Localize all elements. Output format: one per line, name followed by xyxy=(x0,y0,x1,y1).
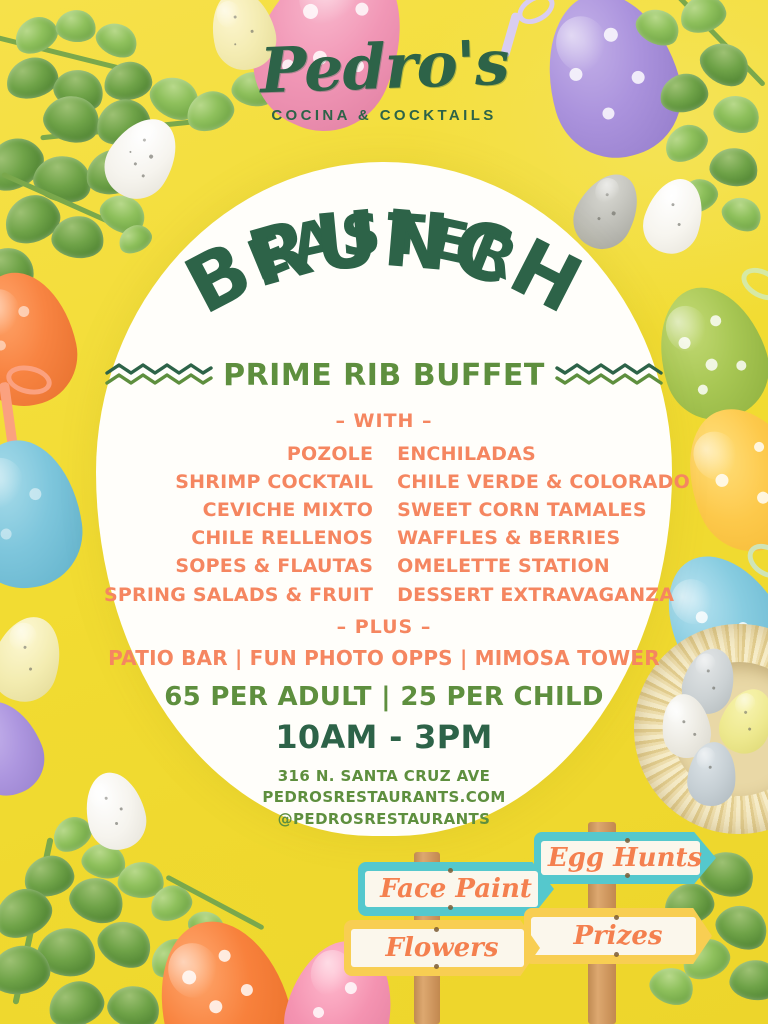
buffet-subtitle: PRIME RIB BUFFET xyxy=(223,358,545,393)
logo-tagline: COCINA & COCKTAILS xyxy=(0,107,768,124)
price-line: 65 PER ADULT | 25 PER CHILD xyxy=(96,682,672,712)
poster-content: EASTER BRUNCH PRIME RIB BUFFET – WITH – xyxy=(96,162,672,836)
menu-column-left: POZOLE SHRIMP COCKTAIL CEVICHE MIXTO CHI… xyxy=(104,440,373,609)
sign-label: Egg Hunts xyxy=(548,843,702,873)
menu-items-grid: POZOLE SHRIMP COCKTAIL CEVICHE MIXTO CHI… xyxy=(104,440,664,609)
sign-face-paint[interactable]: Face Paint xyxy=(358,862,554,916)
menu-item: OMELETTE STATION xyxy=(397,552,690,580)
menu-item: SWEET CORN TAMALES xyxy=(397,496,690,524)
egg-purple-left-lower xyxy=(0,690,55,807)
egg-blue-left xyxy=(0,433,90,595)
sign-plate xyxy=(541,841,700,875)
sign-label: Face Paint xyxy=(380,874,532,904)
ribbon-coral-left-tail xyxy=(0,382,19,457)
menu-item: CHILE VERDE & COLORADO xyxy=(397,468,690,496)
zigzag-right-icon xyxy=(555,363,663,389)
with-label: – WITH – xyxy=(96,410,672,432)
contact-social[interactable]: @PEDROSRESTAURANTS xyxy=(96,809,672,830)
menu-item: CHILE RELLENOS xyxy=(104,524,373,552)
ribbon-purple xyxy=(512,0,560,30)
headline-arch: EASTER BRUNCH xyxy=(96,184,672,374)
signpost-post-left xyxy=(414,852,440,1024)
menu-item: POZOLE xyxy=(104,440,373,468)
sign-plate xyxy=(365,871,538,907)
nest-egg-grey xyxy=(676,642,742,719)
egg-pink-bottom xyxy=(273,929,406,1024)
easter-brunch-poster: Pedro's COCINA & COCKTAILS EASTER BRUNCH xyxy=(0,0,768,1024)
zigzag-left-icon xyxy=(105,363,213,389)
menu-item: ENCHILADAS xyxy=(397,440,690,468)
menu-item: SPRING SALADS & FRUIT xyxy=(104,581,373,609)
headline-line2: BRUNCH xyxy=(172,194,596,332)
ribbon-blue-right xyxy=(741,537,768,585)
signpost-post-right xyxy=(588,822,616,1024)
ribbon-green-right xyxy=(736,261,768,306)
ribbon-coral-left xyxy=(4,362,55,399)
sign-label: Flowers xyxy=(386,933,499,963)
sign-label: Prizes xyxy=(573,921,662,951)
plus-extras-line: PATIO BAR | FUN PHOTO OPPS | MIMOSA TOWE… xyxy=(96,646,672,670)
sign-plate xyxy=(531,917,696,955)
sign-plate xyxy=(351,929,524,967)
menu-item: SOPES & FLAUTAS xyxy=(104,552,373,580)
contact-block: 316 N. SANTA CRUZ AVE PEDROSRESTAURANTS.… xyxy=(96,766,672,830)
egg-orange-bottom xyxy=(140,906,306,1024)
menu-item: WAFFLES & BERRIES xyxy=(397,524,690,552)
menu-column-right: ENCHILADAS CHILE VERDE & COLORADO SWEET … xyxy=(397,440,690,609)
egg-orange-left xyxy=(0,263,87,416)
logo-wordmark: Pedro's xyxy=(259,34,510,102)
egg-pale-left-lower xyxy=(0,608,72,710)
contact-address: 316 N. SANTA CRUZ AVE xyxy=(96,766,672,787)
sign-prizes[interactable]: Prizes xyxy=(524,908,712,964)
menu-item: SHRIMP COCKTAIL xyxy=(104,468,373,496)
nest-egg-blue-grey xyxy=(685,740,739,809)
brand-logo: Pedro's COCINA & COCKTAILS xyxy=(0,38,768,124)
plus-label: – PLUS – xyxy=(96,616,672,638)
arched-title-svg: EASTER BRUNCH xyxy=(104,184,664,374)
nest-egg-yellow xyxy=(711,681,768,761)
buffet-subtitle-row: PRIME RIB BUFFET xyxy=(96,358,672,393)
contact-website[interactable]: PEDROSRESTAURANTS.COM xyxy=(96,787,672,808)
time-line: 10AM - 3PM xyxy=(96,718,672,756)
sign-egg-hunts[interactable]: Egg Hunts xyxy=(534,832,716,884)
menu-item: CEVICHE MIXTO xyxy=(104,496,373,524)
menu-item: DESSERT EXTRAVAGANZA xyxy=(397,581,690,609)
sign-flowers[interactable]: Flowers xyxy=(344,920,540,976)
